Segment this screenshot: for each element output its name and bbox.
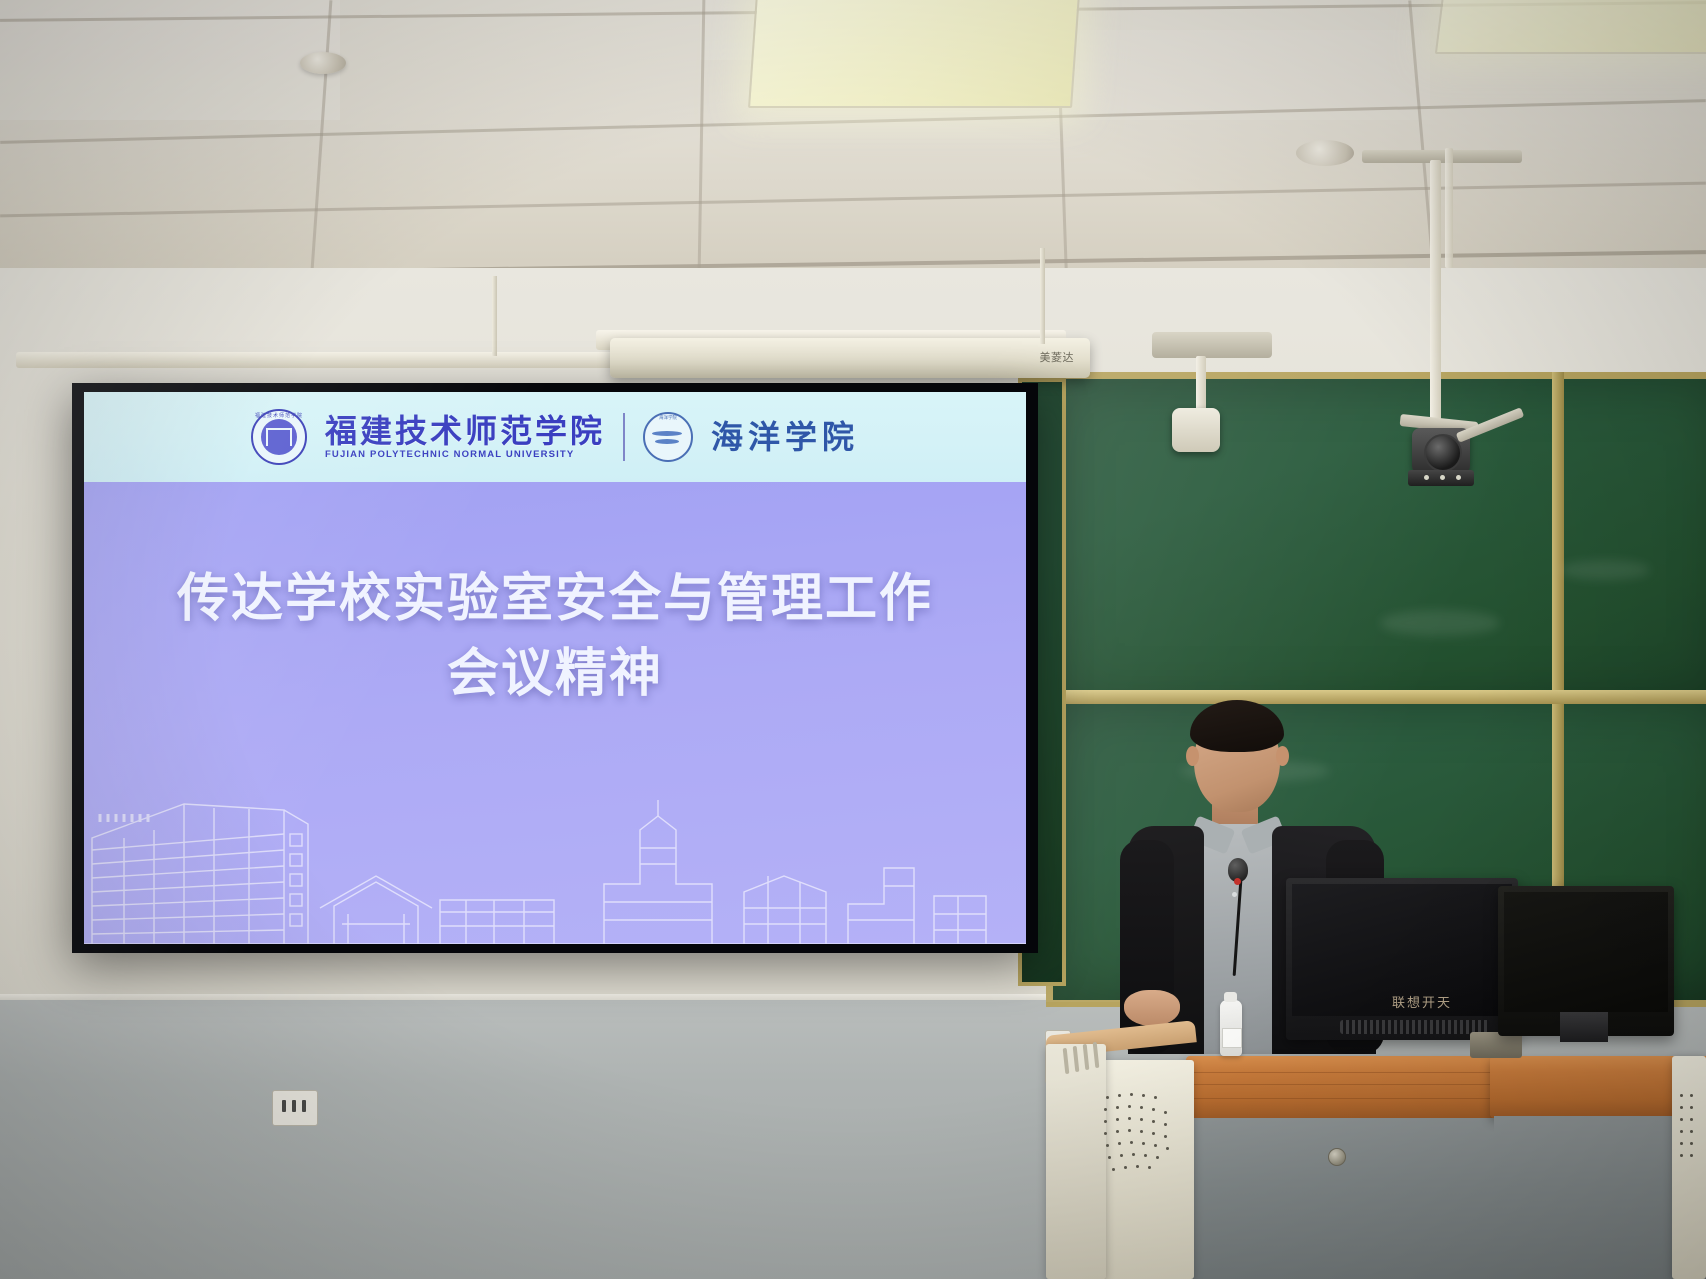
monitor-hinge	[1340, 1020, 1490, 1034]
projection-screen: 福建技术师范学院 福建技术师范学院 FUJIAN POLYTECHNIC NOR…	[72, 383, 1038, 953]
projector-screen-case: 美菱达	[610, 338, 1090, 378]
slide-title: 传达学校实验室安全与管理工作 会议精神	[84, 562, 1026, 713]
wall-outlet[interactable]	[272, 1090, 318, 1126]
university-seal-icon: 福建技术师范学院	[251, 409, 307, 465]
screen-case-brand: 美菱达	[1040, 349, 1075, 365]
smoke-detector-icon	[300, 52, 346, 74]
podium-desk-top	[1186, 1056, 1496, 1120]
screen-support-rail	[16, 352, 616, 368]
water-bottle-label	[1222, 1028, 1242, 1048]
classroom-photo-scene: 美菱达 福建技术师范学院 福建技术师范学院 FUJIAN POLYTECHNIC…	[0, 0, 1706, 1279]
presenter-hair	[1190, 700, 1284, 752]
college-seal-ring-text: 海洋学院	[645, 415, 691, 421]
podium-speaker-grille	[1100, 1092, 1176, 1184]
monitor-brand-label: 联想开天	[1392, 992, 1452, 1011]
podium-cabinet-upper	[1046, 1044, 1106, 1279]
water-bottle-cap	[1224, 992, 1237, 1002]
console-display-screen	[1504, 892, 1668, 1012]
microphone-indicator	[1234, 878, 1241, 885]
podium-body	[1190, 1118, 1496, 1279]
university-name-block: 福建技术师范学院 FUJIAN POLYTECHNIC NORMAL UNIVE…	[325, 415, 605, 460]
presentation-slide: 福建技术师范学院 福建技术师范学院 FUJIAN POLYTECHNIC NOR…	[84, 392, 1026, 944]
secondary-pole	[1445, 148, 1453, 268]
camera-lens-icon	[1424, 434, 1462, 472]
ceiling-light-panel-2	[1435, 0, 1706, 54]
university-name-cn: 福建技术师范学院	[325, 415, 605, 447]
projector-lens-head	[1172, 408, 1220, 452]
ceiling-light-panel	[748, 0, 1080, 108]
camera-pole	[1430, 160, 1441, 460]
ceiling-drop-rod-2	[1040, 248, 1045, 344]
university-name-en: FUJIAN POLYTECHNIC NORMAL UNIVERSITY	[325, 449, 574, 460]
projector-housing	[1152, 332, 1272, 358]
presenter-hand	[1124, 990, 1180, 1026]
ceiling-drop-rod	[492, 276, 497, 356]
podium-speaker-grille-right	[1676, 1090, 1702, 1170]
slide-title-line-1: 传达学校实验室安全与管理工作	[177, 570, 933, 628]
logo-divider	[623, 413, 625, 461]
slide-title-line-2: 会议精神	[84, 637, 1026, 712]
slide-logo-row: 福建技术师范学院 福建技术师范学院 FUJIAN POLYTECHNIC NOR…	[84, 398, 1026, 476]
podium-lock-icon[interactable]	[1328, 1148, 1346, 1166]
campus-skyline-illustration	[84, 764, 1026, 944]
console-stand	[1560, 1012, 1608, 1042]
ceiling-speaker-icon	[1296, 140, 1354, 166]
college-seal-icon: 海洋学院	[643, 412, 693, 462]
camera-ceiling-bracket	[1362, 150, 1522, 163]
university-seal-ring-text: 福建技术师范学院	[253, 412, 305, 419]
slide-header-band: 福建技术师范学院 福建技术师范学院 FUJIAN POLYTECHNIC NOR…	[84, 392, 1026, 482]
college-name-cn: 海洋学院	[711, 421, 859, 453]
